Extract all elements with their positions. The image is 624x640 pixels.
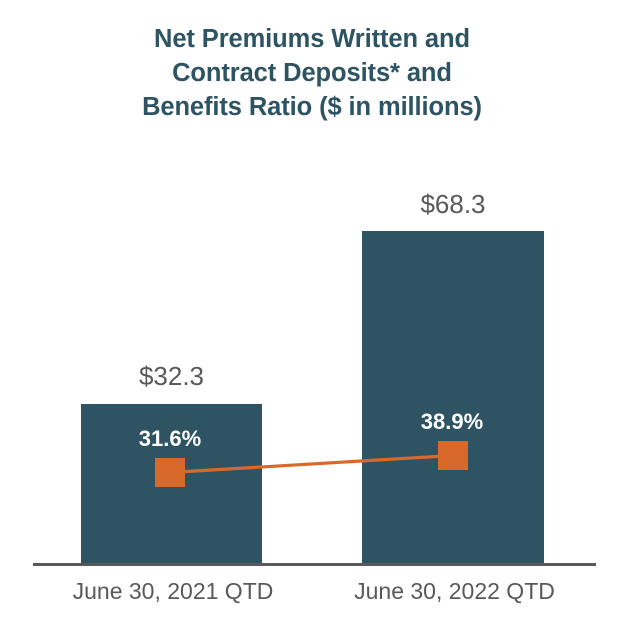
- x-axis-line: [33, 563, 596, 566]
- plot-area: $32.3 $68.3 31.6% 38.9% June 30, 2021 QT…: [0, 0, 624, 640]
- chart-container: Net Premiums Written and Contract Deposi…: [0, 0, 624, 640]
- benefits-ratio-label-2022: 38.9%: [382, 409, 522, 435]
- bar-june-30-2022-qtd: [362, 231, 544, 564]
- bar-value-label-2021: $32.3: [81, 361, 262, 392]
- benefits-ratio-label-2021: 31.6%: [100, 426, 240, 452]
- x-axis-label-2021: June 30, 2021 QTD: [33, 578, 313, 605]
- benefits-ratio-marker-2022: [438, 441, 468, 470]
- x-axis-label-2022: June 30, 2022 QTD: [313, 578, 596, 605]
- benefits-ratio-marker-2021: [155, 458, 185, 487]
- bar-value-label-2022: $68.3: [362, 189, 544, 220]
